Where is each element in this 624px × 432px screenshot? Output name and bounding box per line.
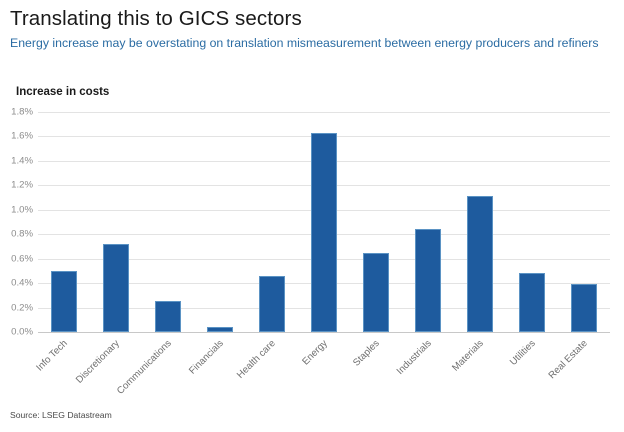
bar[interactable] [519,273,545,332]
x-label-slot: Materials [454,334,506,404]
bar-slot [246,112,298,332]
bar-slot [454,112,506,332]
y-axis-tick-label: 0.6% [11,253,33,264]
bar-slot [38,112,90,332]
y-axis-tick-label: 0.8% [11,229,33,240]
bar-slot [402,112,454,332]
chart-title: Increase in costs [16,86,109,98]
x-label-slot: Energy [298,334,350,404]
plot-area: 1.8%1.6%1.4%1.2%1.0%0.8%0.6%0.4%0.2%0.0% [38,112,610,332]
x-label-slot: Industrials [402,334,454,404]
y-axis-tick-label: 1.2% [11,180,33,191]
x-label-slot: Communications [142,334,194,404]
bar-slot [142,112,194,332]
page-title: Translating this to GICS sectors [10,6,614,32]
bar[interactable] [311,133,337,332]
bar[interactable] [571,284,597,332]
page-subtitle: Energy increase may be overstating on tr… [10,36,614,52]
bar[interactable] [51,271,77,332]
x-label-slot: Real Estate [558,334,610,404]
y-axis-tick-label: 1.4% [11,155,33,166]
bar-chart: Increase in costs 1.8%1.6%1.4%1.2%1.0%0.… [0,86,624,406]
bar[interactable] [415,229,441,332]
source-note: Source: LSEG Datastream [10,410,112,420]
y-axis-tick-label: 1.0% [11,204,33,215]
bar[interactable] [467,196,493,332]
header: Translating this to GICS sectors Energy … [0,0,624,52]
bar-slot [350,112,402,332]
bar-slot [298,112,350,332]
y-axis-tick-label: 0.0% [11,327,33,338]
y-axis-tick-label: 1.6% [11,131,33,142]
y-axis-tick-label: 0.2% [11,302,33,313]
chart-page: Translating this to GICS sectors Energy … [0,0,624,432]
bar-series [38,112,610,332]
x-label-slot: Health care [246,334,298,404]
bar[interactable] [363,253,389,332]
bar[interactable] [103,244,129,332]
y-axis-tick-label: 0.4% [11,278,33,289]
bar-slot [506,112,558,332]
bar[interactable] [259,276,285,332]
bar-slot [558,112,610,332]
x-axis-labels: Info TechDiscretionaryCommunicationsFina… [38,334,610,404]
bar-slot [90,112,142,332]
y-axis-tick-label: 1.8% [11,107,33,118]
